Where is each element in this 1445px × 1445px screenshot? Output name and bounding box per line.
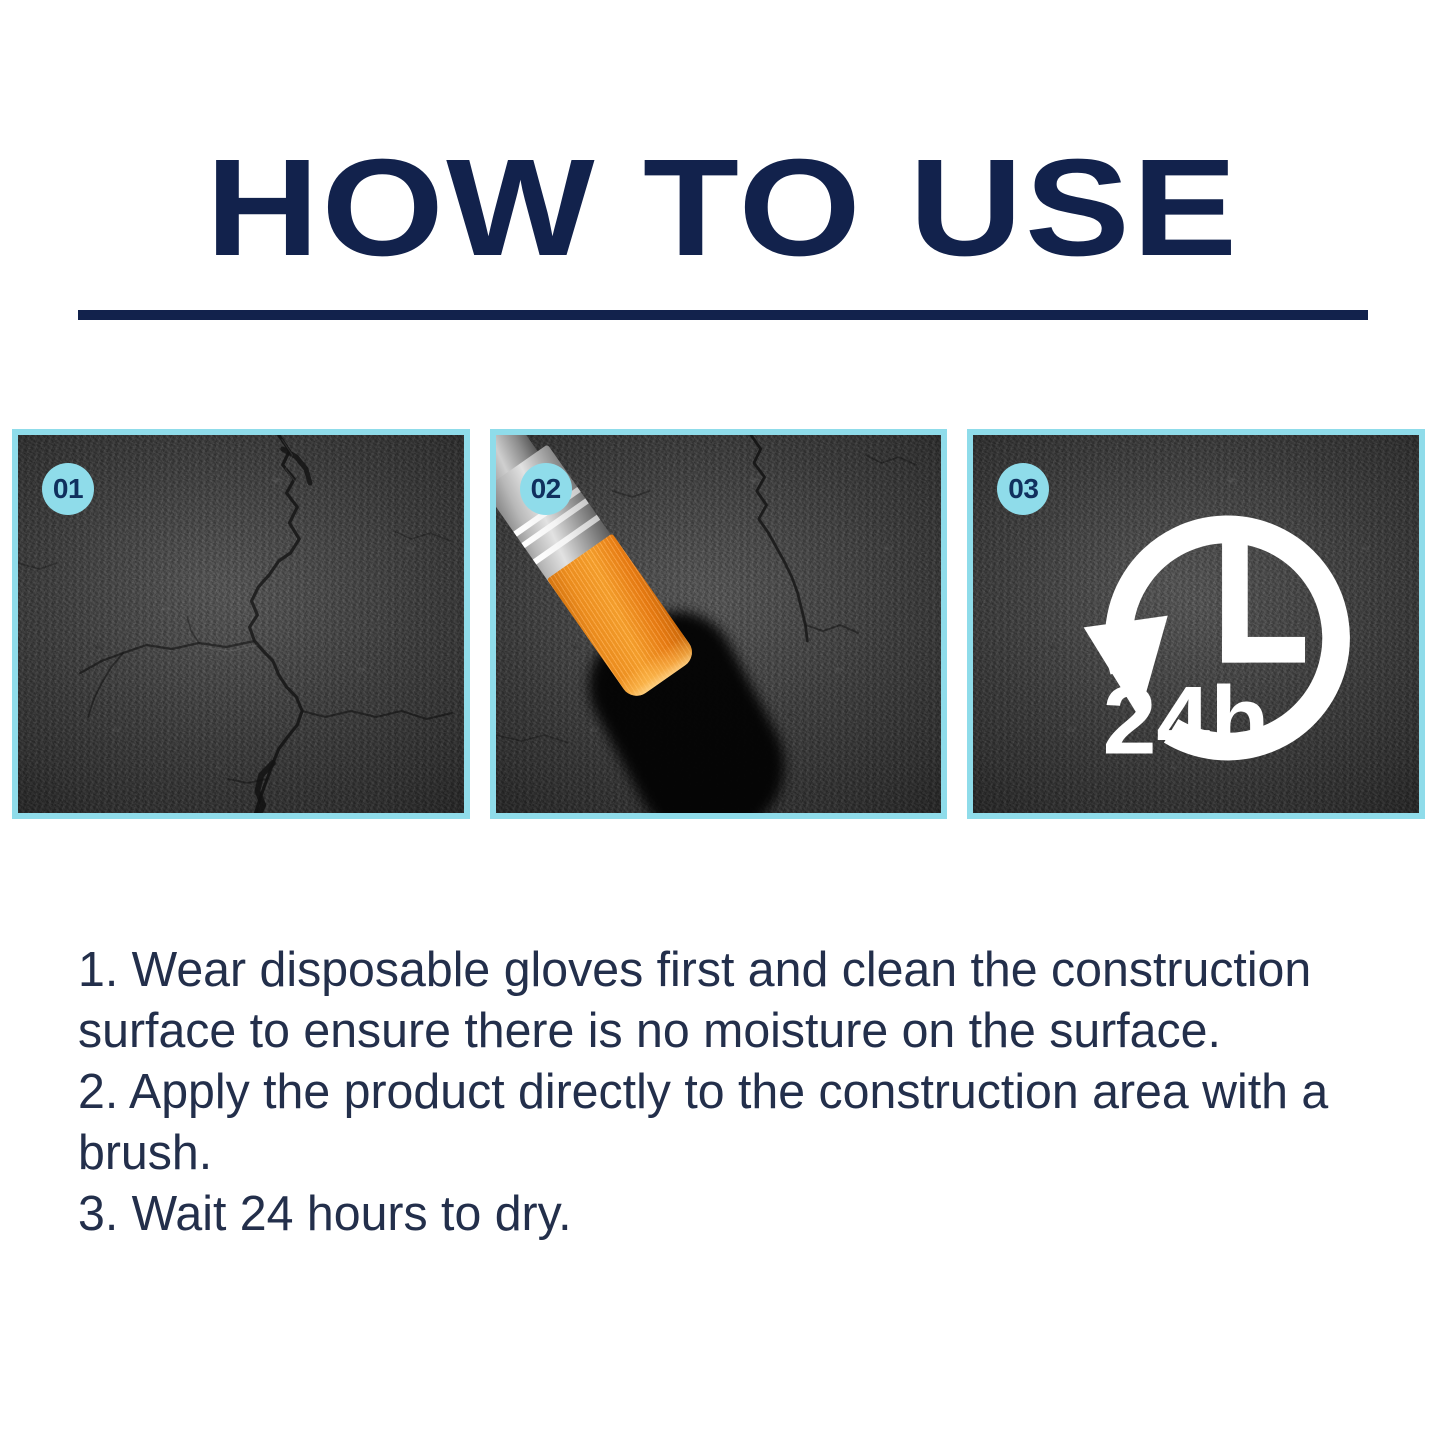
step-badge-2: 02 <box>520 463 572 515</box>
brush-handle-wood <box>490 429 497 430</box>
brush-body <box>490 429 705 706</box>
step-panel-2: 02 <box>490 429 948 819</box>
title-underline-rule <box>78 310 1368 320</box>
how-to-use-infographic: HOW TO USE <box>0 0 1445 1445</box>
instructions-block: 1. Wear disposable gloves first and clea… <box>78 940 1359 1245</box>
instruction-item-2: 2. Apply the product directly to the con… <box>78 1062 1359 1184</box>
instruction-item-3: 3. Wait 24 hours to dry. <box>78 1184 1359 1245</box>
step-panel-1: 01 <box>12 429 470 819</box>
step-badge-3: 03 <box>997 463 1049 515</box>
instruction-item-1: 1. Wear disposable gloves first and clea… <box>78 940 1359 1062</box>
page-title: HOW TO USE <box>0 138 1445 278</box>
step-panels-row: 01 <box>12 429 1425 819</box>
timer-24h-icon: 24h <box>1069 473 1385 789</box>
step-badge-1: 01 <box>42 463 94 515</box>
step-panel-3: 24h 03 <box>967 429 1425 819</box>
header-block: HOW TO USE <box>0 138 1445 278</box>
timer-label: 24h <box>1103 665 1270 774</box>
